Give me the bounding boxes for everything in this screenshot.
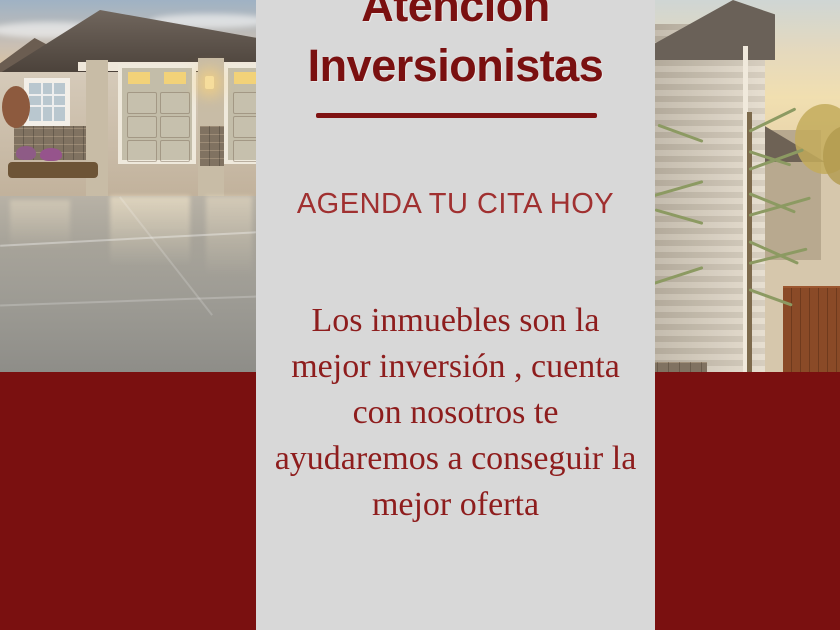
body-copy: Los inmuebles son la mejor inversión , c…: [274, 298, 637, 528]
reflection: [110, 196, 190, 266]
subheadline: AGENDA TU CITA HOY: [256, 186, 655, 222]
left-column: Tenemos propiedades en toda la República: [0, 0, 256, 630]
garage-door: [118, 64, 196, 164]
stone-veneer: [655, 362, 707, 372]
center-text-panel: Atención Inversionistas AGENDA TU CITA H…: [256, 0, 655, 630]
right-column: ENTREGA GARANTIZADA Contáctame corporati…: [655, 0, 840, 630]
right-red-panel: ENTREGA GARANTIZADA Contáctame: [655, 372, 840, 630]
left-red-panel: Tenemos propiedades en toda la República: [0, 372, 256, 630]
porch-column: [86, 60, 108, 200]
house-window: [24, 78, 70, 126]
flower-bush: [40, 148, 62, 161]
poster-canvas: Tenemos propiedades en toda la República…: [0, 0, 840, 630]
garage-door-secondary: [224, 64, 256, 164]
headline-line-2: Inversionistas: [256, 36, 655, 96]
flower-bush: [16, 146, 36, 160]
title-divider: [316, 113, 597, 118]
left-house-photo: [0, 0, 256, 372]
reflection: [206, 196, 252, 276]
stone-veneer: [200, 126, 224, 166]
page-title: Atención Inversionistas: [256, 0, 655, 96]
wood-fence: [783, 288, 840, 372]
tree-foliage: [2, 86, 30, 128]
porch-light: [205, 76, 214, 89]
headline-line-1: Atención: [256, 0, 655, 36]
right-house-photo: [655, 0, 840, 372]
